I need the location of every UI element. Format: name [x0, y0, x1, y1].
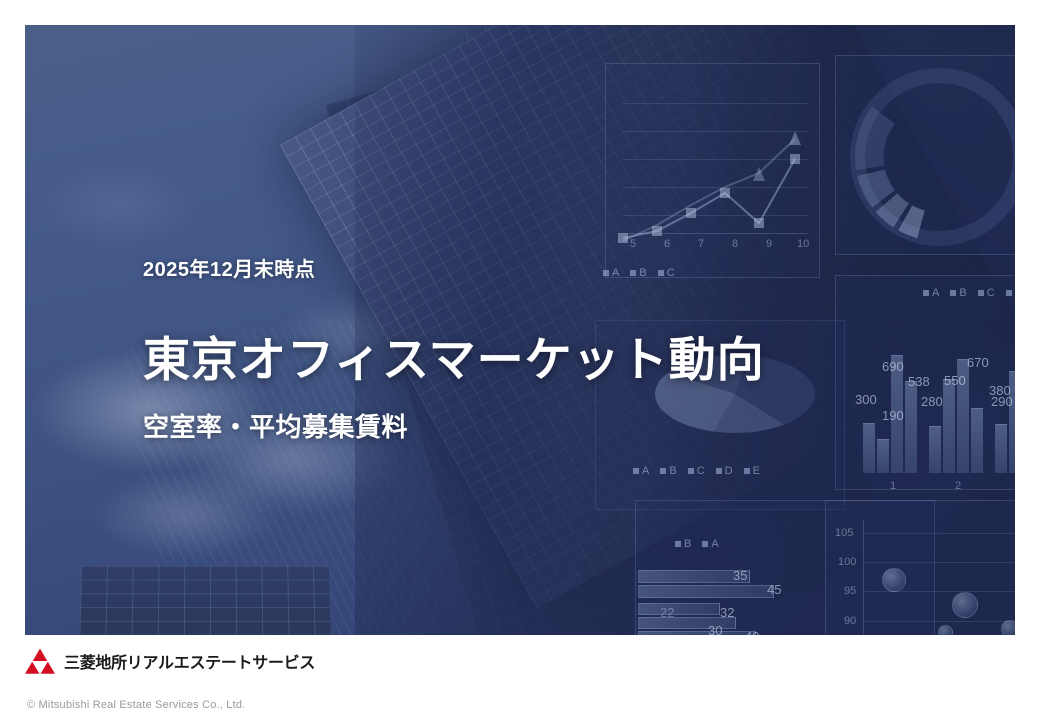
legend-swatch	[630, 270, 636, 276]
legend-item: C	[658, 267, 675, 279]
hbar-data-label: 35	[733, 568, 747, 583]
gridline	[865, 621, 1015, 622]
footer: 三菱地所リアルエステートサービス	[25, 648, 315, 674]
company-logo: 三菱地所リアルエステートサービス	[25, 648, 315, 674]
legend-item: E	[744, 465, 760, 477]
bubble	[882, 568, 906, 592]
hbar-data-label: 32	[720, 605, 734, 620]
slide-date-label: 2025年12月末時点	[143, 253, 315, 282]
gridline	[865, 533, 1015, 534]
legend-swatch	[744, 468, 750, 474]
legend-swatch	[950, 290, 956, 296]
bar-data-label: 670	[967, 355, 989, 370]
legend-swatch	[1006, 290, 1012, 296]
bubble-y-tick: 95	[844, 585, 856, 597]
gridline	[865, 562, 1015, 563]
line-x-tick: 5	[630, 238, 636, 250]
legend-swatch	[675, 541, 681, 547]
bar-data-label: 690	[882, 359, 904, 374]
window-grid	[79, 566, 332, 635]
bar	[877, 439, 889, 473]
bubble	[1001, 620, 1015, 635]
bar	[929, 426, 941, 473]
bar-x-tick: 1	[890, 480, 896, 492]
bar	[971, 408, 983, 473]
y-axis	[863, 520, 864, 635]
bar	[995, 424, 1007, 473]
bubble-y-tick: 90	[844, 615, 856, 627]
legend-item: A	[603, 267, 619, 279]
bar-x-tick: 2	[955, 480, 961, 492]
line-x-tick: 8	[732, 238, 738, 250]
hbar-data-label: 40	[745, 629, 759, 635]
x-axis	[623, 233, 808, 234]
legend-item: A	[633, 465, 649, 477]
lower-left-building	[79, 566, 332, 635]
hbar-data-label: 22	[660, 605, 674, 620]
legend-item: D	[716, 465, 733, 477]
page-subtitle: 空室率・平均募集賃料	[143, 407, 408, 444]
bar	[905, 381, 917, 473]
legend-item: C	[688, 465, 705, 477]
line-x-tick: 9	[766, 238, 772, 250]
line-chart-legend: A B C	[603, 267, 675, 279]
legend-item: C	[978, 287, 995, 299]
legend-swatch	[978, 290, 984, 296]
legend-swatch	[688, 468, 694, 474]
bar-data-label: 550	[944, 373, 966, 388]
legend-swatch	[660, 468, 666, 474]
legend-item: B	[950, 287, 966, 299]
bubble	[952, 592, 978, 618]
legend-swatch	[716, 468, 722, 474]
hbar-chart-legend: B A	[675, 538, 719, 550]
legend-item: D	[1006, 287, 1015, 299]
company-logo-text: 三菱地所リアルエステートサービス	[64, 649, 315, 673]
legend-swatch	[603, 270, 609, 276]
legend-swatch	[923, 290, 929, 296]
hbar	[638, 603, 720, 615]
hero-background-image: 5 6 7 8 9 10 A B C A B C D	[25, 25, 1015, 635]
bar-data-label: 300	[855, 392, 877, 407]
line-x-tick: 7	[698, 238, 704, 250]
legend-item: B	[675, 538, 691, 550]
line-x-tick: 10	[797, 238, 809, 250]
legend-swatch	[702, 541, 708, 547]
line-chart-series	[605, 63, 820, 278]
hbar-data-label: 30	[708, 623, 722, 635]
line-x-tick: 6	[664, 238, 670, 250]
hbar	[638, 631, 756, 635]
hbar	[638, 585, 774, 598]
legend-swatch	[633, 468, 639, 474]
legend-item: A	[702, 538, 718, 550]
bar	[863, 423, 875, 473]
title-slide: 5 6 7 8 9 10 A B C A B C D	[0, 0, 1040, 720]
page-title: 東京オフィスマーケット動向	[143, 321, 765, 390]
bubble	[938, 625, 953, 635]
gridline	[865, 591, 1015, 592]
hbar-data-label: 45	[767, 582, 781, 597]
bar	[943, 379, 955, 473]
legend-item: B	[660, 465, 676, 477]
bar-data-label: 190	[882, 408, 904, 423]
donut-chart-segments	[855, 73, 1015, 241]
bubble-y-tick: 105	[835, 527, 853, 539]
bar-data-label: 290	[991, 394, 1013, 409]
mitsubishi-three-diamonds-icon	[25, 648, 55, 674]
bar-data-label: 538	[908, 374, 930, 389]
copyright-notice: © Mitsubishi Real Estate Services Co., L…	[27, 699, 245, 711]
legend-item: B	[630, 267, 646, 279]
legend-item: A	[923, 287, 939, 299]
column-chart-legend: A B C D	[923, 287, 1015, 299]
pie-chart-legend: A B C D E	[633, 465, 760, 477]
legend-swatch	[658, 270, 664, 276]
bar-data-label: 280	[921, 394, 943, 409]
bubble-y-tick: 100	[838, 556, 856, 568]
